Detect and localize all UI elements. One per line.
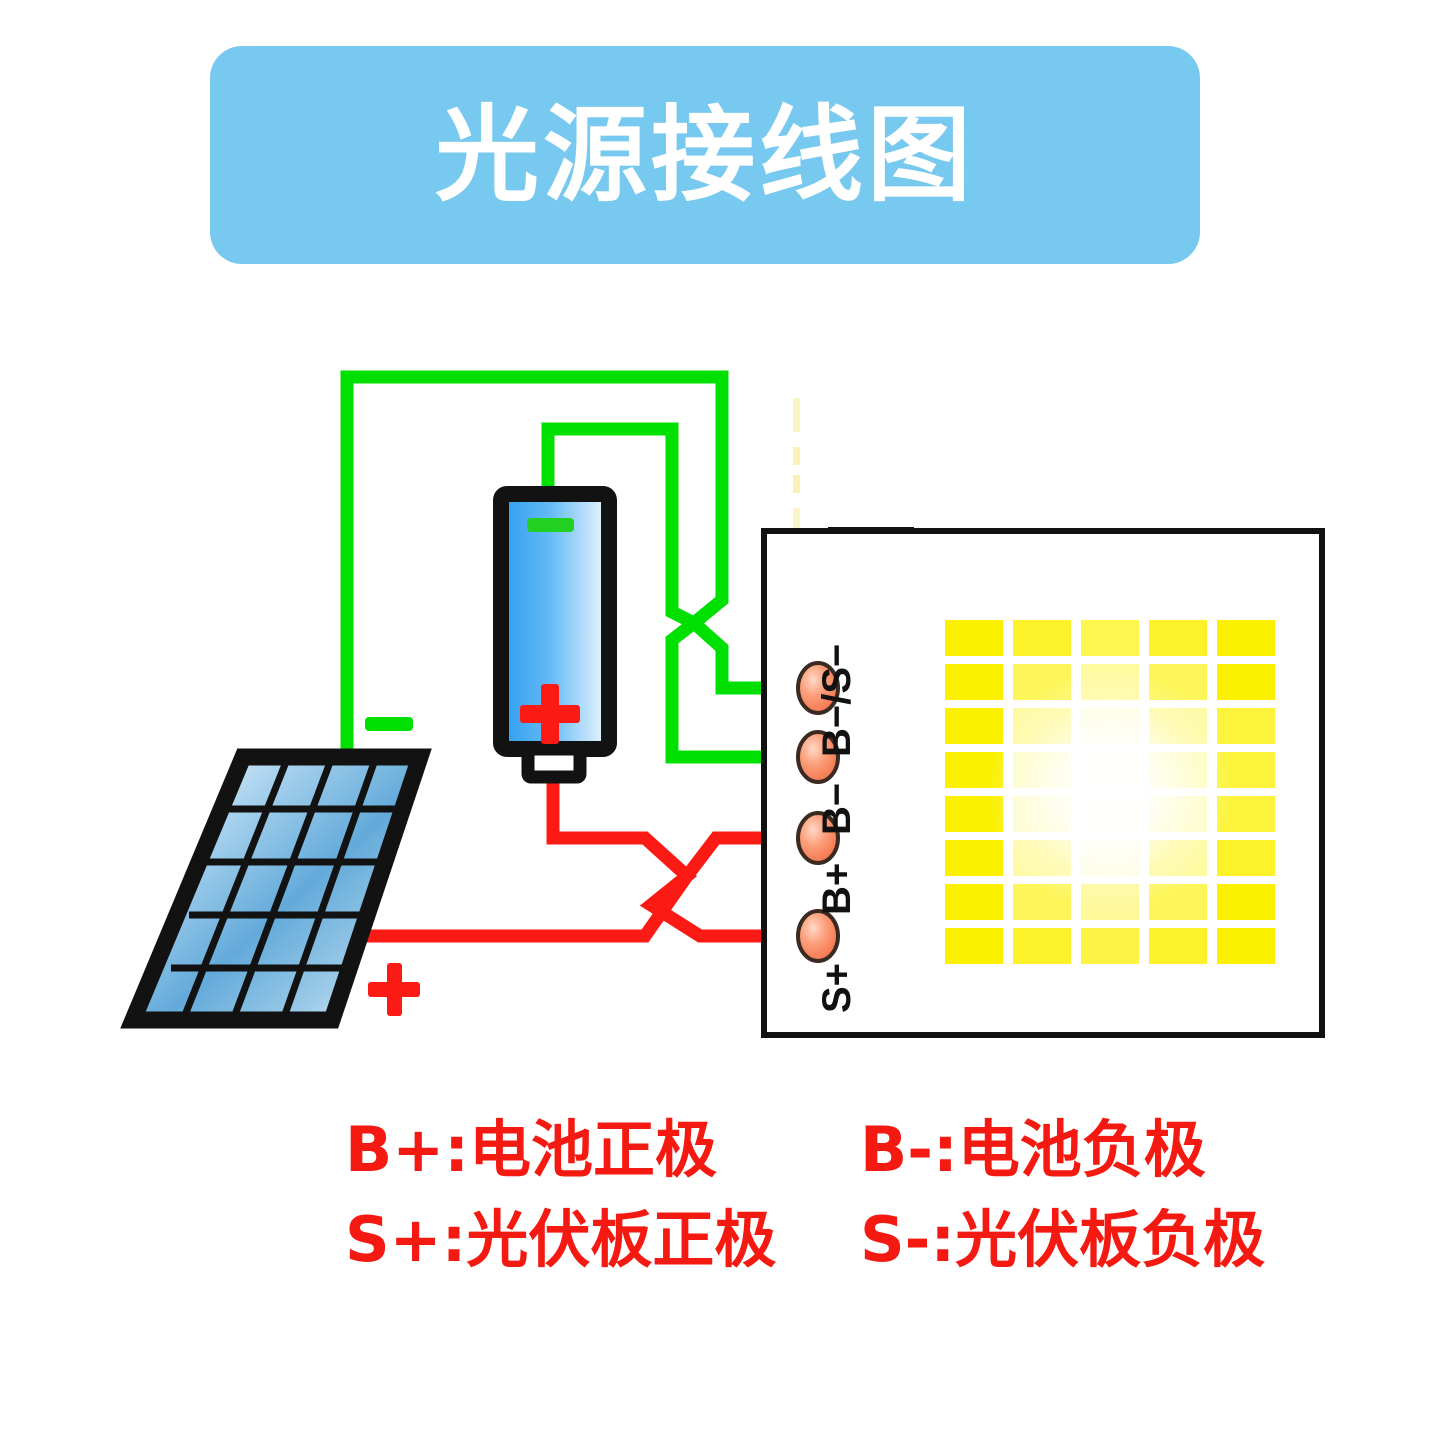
legend-item-b-plus: B+:电池正极 — [345, 1105, 776, 1195]
battery — [501, 494, 609, 777]
legend-item-s-minus: S-:光伏板负极 — [860, 1195, 1265, 1285]
diagram-page: 光源接线图 — [0, 0, 1440, 1440]
terminal-s-plus[interactable] — [798, 911, 838, 961]
positive-wire-group — [358, 770, 812, 936]
solar-panel — [133, 757, 420, 1020]
terminal-label-bs-minus: B−/S− — [815, 644, 860, 757]
solar-plus-mark — [368, 963, 420, 1016]
wire-solar-positive — [358, 838, 812, 936]
legend-column-positive: B+:电池正极 S+:光伏板正极 — [345, 1105, 776, 1285]
glow-artifact — [793, 398, 800, 532]
legend: B+:电池正极 S+:光伏板正极 B-:电池负极 S-:光伏板负极 — [0, 1105, 1440, 1295]
battery-minus-mark — [527, 518, 574, 532]
legend-item-b-minus: B-:电池负极 — [860, 1105, 1265, 1195]
led-center-glow — [990, 672, 1230, 908]
terminal-label-b-minus: B− — [815, 783, 860, 835]
led-array — [945, 620, 1275, 964]
legend-item-s-plus: S+:光伏板正极 — [345, 1195, 776, 1285]
solar-minus-mark — [365, 717, 413, 731]
terminal-label-b-plus: B+ — [815, 863, 860, 915]
battery-terminal-nub — [528, 749, 580, 777]
terminal-label-s-plus: S+ — [815, 963, 860, 1013]
legend-column-negative: B-:电池负极 S-:光伏板负极 — [860, 1105, 1265, 1285]
